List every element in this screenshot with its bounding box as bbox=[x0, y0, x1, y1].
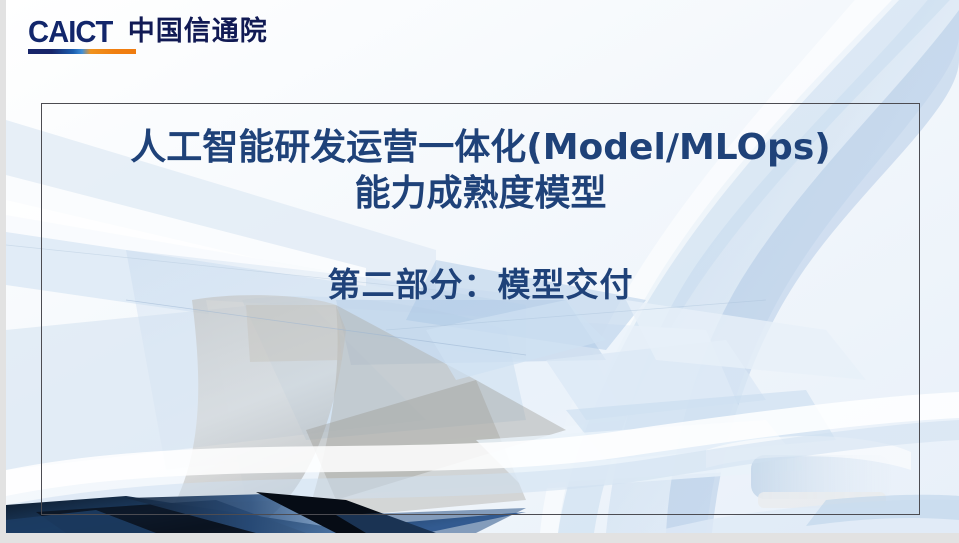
presentation-slide: CAICT 中国信通院 人工智能研发运营一体化(Model/MLOps) 能力成… bbox=[0, 0, 959, 543]
caict-chinese-name: 中国信通院 bbox=[128, 18, 268, 45]
logo-gradient-rule bbox=[28, 49, 136, 54]
slide-title: 人工智能研发运营一体化(Model/MLOps) 能力成熟度模型 bbox=[41, 125, 920, 217]
caict-logo: CAICT 中国信通院 bbox=[28, 16, 268, 47]
slide-subtitle: 第二部分：模型交付 bbox=[41, 217, 920, 305]
slide-title-line-2: 能力成熟度模型 bbox=[41, 171, 920, 217]
caict-wordmark: CAICT bbox=[28, 16, 112, 47]
slide-canvas: CAICT 中国信通院 人工智能研发运营一体化(Model/MLOps) 能力成… bbox=[6, 0, 959, 533]
slide-title-line-1: 人工智能研发运营一体化(Model/MLOps) bbox=[130, 127, 830, 168]
caict-wordmark-group: CAICT bbox=[28, 16, 118, 47]
title-block: 人工智能研发运营一体化(Model/MLOps) 能力成熟度模型 第二部分：模型… bbox=[41, 103, 920, 305]
